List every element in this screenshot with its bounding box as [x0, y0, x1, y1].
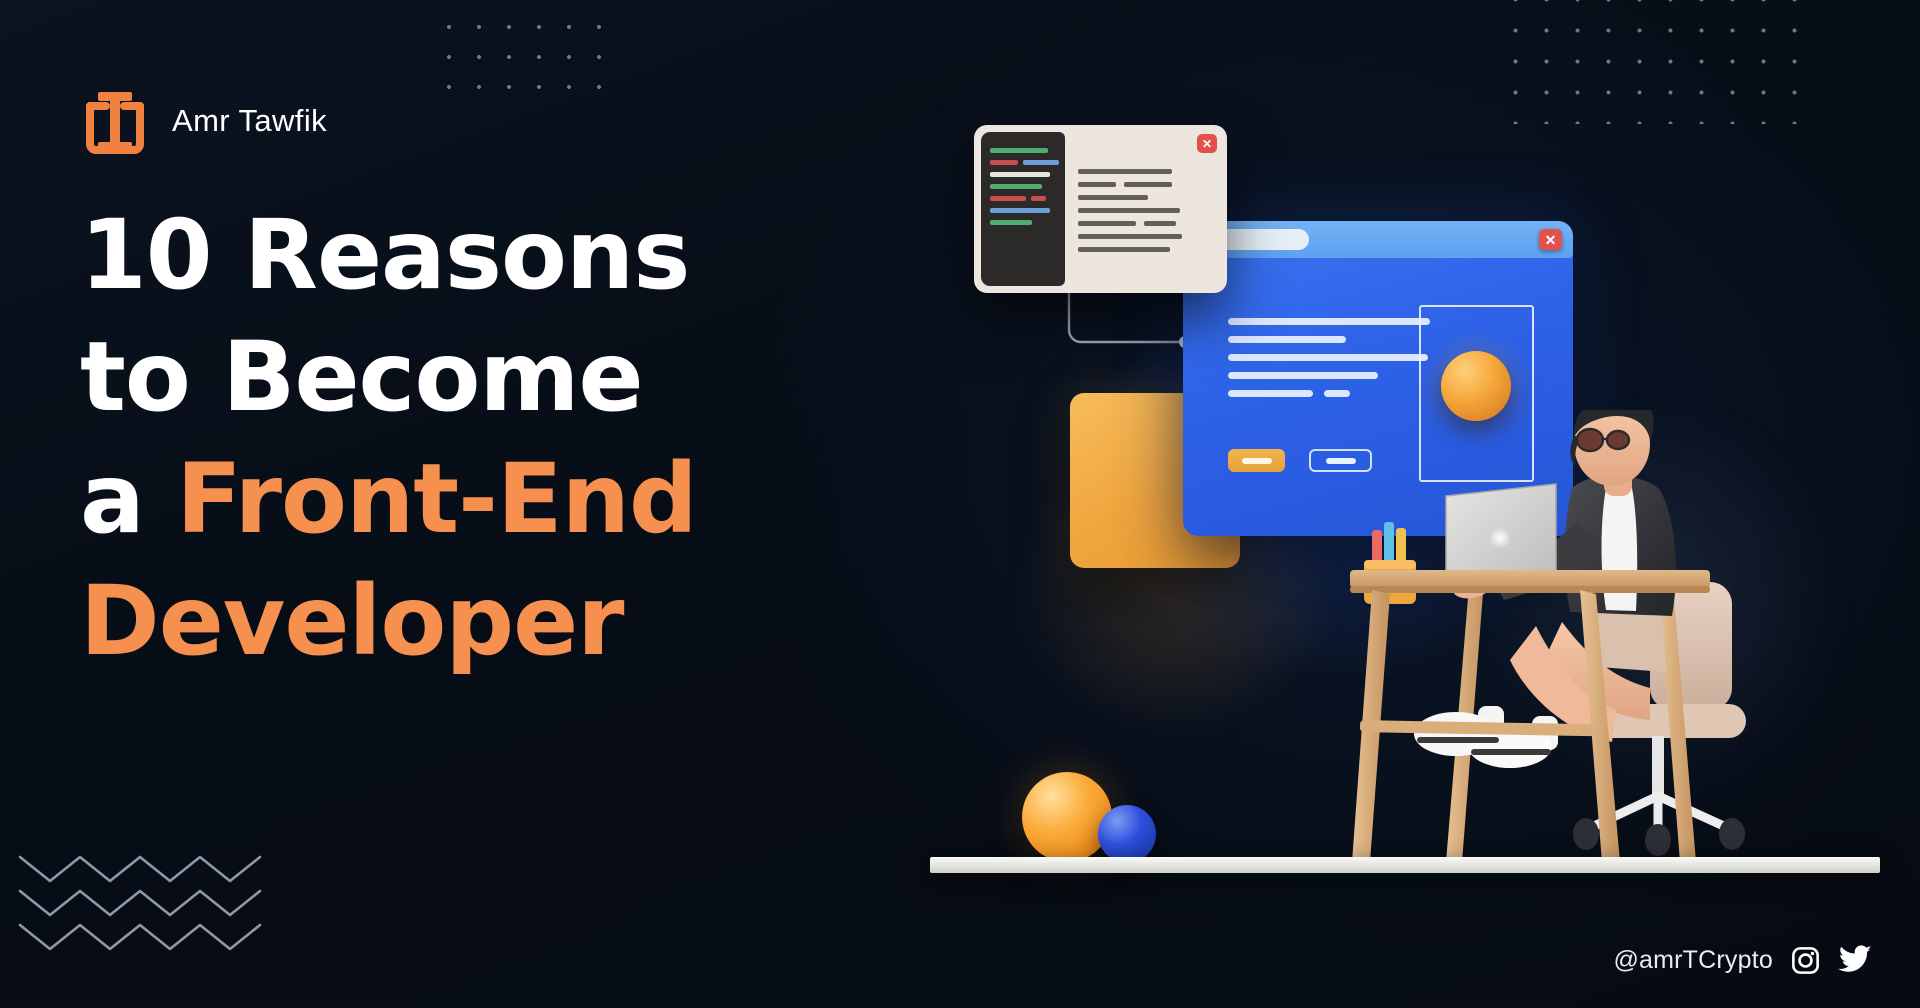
orange-sphere [1022, 772, 1112, 862]
code-line [1031, 196, 1046, 201]
headline-line-2: to Become [80, 317, 920, 439]
page-title: 10 Reasons to Become a Front-End Develop… [80, 195, 920, 683]
browser-close-button[interactable]: ✕ [1539, 229, 1562, 250]
code-window-close-button[interactable]: ✕ [1197, 134, 1217, 153]
doc-line [1124, 182, 1172, 187]
chair-column [1652, 736, 1664, 798]
instagram-icon[interactable] [1790, 945, 1821, 976]
doc-line [1078, 195, 1148, 200]
desk-top [1350, 570, 1710, 588]
doc-line [1144, 221, 1176, 226]
code-editor-window[interactable]: ✕ [974, 125, 1227, 293]
headline-line-1: 10 Reasons [80, 195, 920, 317]
amr-tawfik-logo-icon [84, 86, 146, 156]
code-line [990, 184, 1042, 189]
doc-line [1078, 234, 1182, 239]
code-panel [981, 132, 1065, 286]
desk-scene [1350, 410, 1830, 890]
browser-text-line [1228, 390, 1313, 397]
headline-line-3-accent: Front-End [176, 443, 696, 555]
browser-text-line [1324, 390, 1350, 397]
floor-platform [930, 857, 1880, 873]
headline-line-3-white: a [80, 443, 176, 555]
footer-social-bar: @amrTCrypto [1613, 945, 1872, 976]
brand-header: Amr Tawfik [84, 86, 327, 156]
browser-titlebar: ✕ [1183, 221, 1573, 258]
zigzag-decoration [18, 845, 268, 955]
code-line [990, 148, 1048, 153]
poster-canvas: Amr Tawfik 10 Reasons to Become a Front-… [0, 0, 1920, 1008]
code-line [990, 196, 1026, 201]
browser-text-line [1228, 354, 1428, 361]
front-end-developer-illustration: ✕ ✕ [930, 60, 1880, 940]
brand-name: Amr Tawfik [172, 103, 327, 139]
doc-line [1078, 169, 1172, 174]
doc-line [1078, 182, 1116, 187]
blue-sphere [1098, 805, 1156, 863]
code-line [990, 208, 1050, 213]
social-handle: @amrTCrypto [1613, 946, 1773, 975]
dot-grid-top-left [434, 0, 616, 110]
code-line [1023, 160, 1059, 165]
desk-stretcher [1360, 720, 1594, 736]
headline-line-4: Developer [80, 561, 920, 683]
code-line [990, 220, 1032, 225]
primary-button[interactable] [1228, 449, 1285, 472]
headline-line-3: a Front-End [80, 439, 920, 561]
code-line [990, 160, 1018, 165]
browser-text-line [1228, 318, 1430, 325]
browser-text-line [1228, 372, 1378, 379]
code-line [990, 172, 1050, 177]
doc-line [1078, 221, 1136, 226]
twitter-icon[interactable] [1838, 945, 1872, 976]
browser-text-line [1228, 336, 1346, 343]
doc-line [1078, 247, 1170, 252]
doc-line [1078, 208, 1180, 213]
